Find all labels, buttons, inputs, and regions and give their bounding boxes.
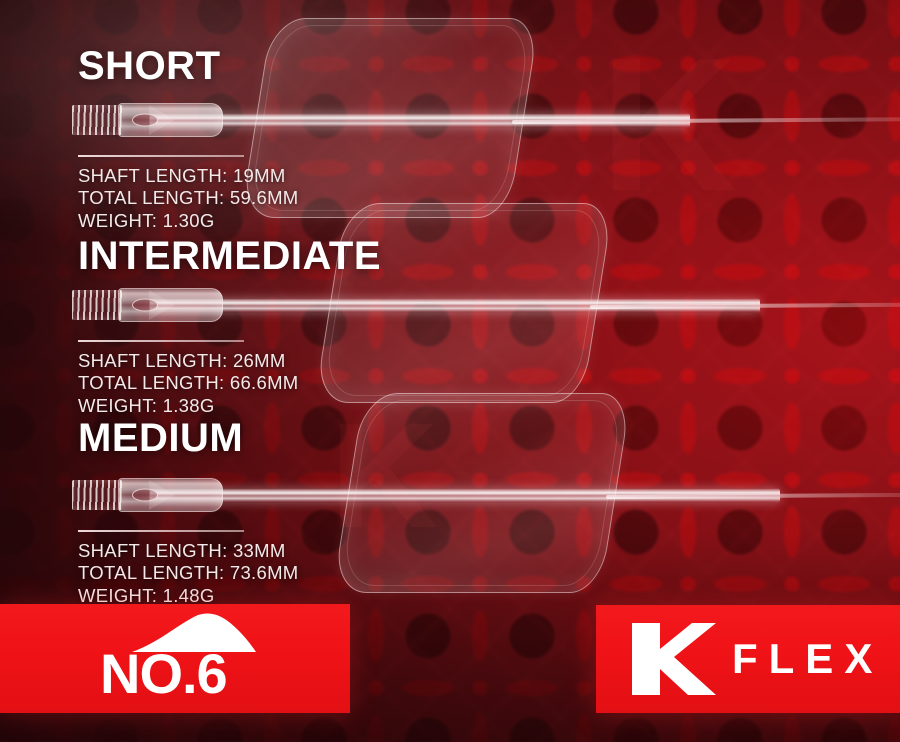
- product-block-medium: MEDIUM: [78, 418, 243, 458]
- shaft-body: [150, 488, 780, 503]
- collar-v-icon: [149, 105, 175, 135]
- collar-v-icon: [149, 480, 175, 510]
- spec-shaft-length: SHAFT LENGTH: 19MM: [78, 165, 299, 188]
- shaft-thread: [72, 290, 122, 320]
- shaft-collar: [118, 103, 223, 137]
- k-logo-icon: [630, 621, 716, 697]
- product-infographic: K K SHORT SHAFT LENGTH: 19MM TOTAL LENGT…: [0, 0, 900, 742]
- product-block-intermediate: INTERMEDIATE: [78, 236, 381, 276]
- flex-logo-text: FLEX: [732, 638, 883, 680]
- divider-rule: [78, 340, 244, 342]
- divider-rule: [78, 530, 244, 532]
- product-title: INTERMEDIATE: [78, 236, 381, 276]
- shaft-body: [150, 113, 690, 128]
- shaft-collar: [118, 478, 223, 512]
- divider-rule: [78, 155, 244, 157]
- shaft-collar: [118, 288, 223, 322]
- product-title: MEDIUM: [78, 418, 243, 458]
- spec-shaft-length: SHAFT LENGTH: 33MM: [78, 540, 299, 563]
- product-title: SHORT: [78, 46, 221, 86]
- spec-shaft-length: SHAFT LENGTH: 26MM: [78, 350, 299, 373]
- shaft-thread: [72, 105, 122, 135]
- no6-logo-badge: NO.6: [0, 604, 350, 713]
- k-flex-logo-badge: FLEX: [596, 605, 900, 713]
- collar-v-icon: [149, 290, 175, 320]
- shaft-body: [150, 298, 760, 313]
- product-block-short: SHORT: [78, 46, 221, 86]
- shaft-thread: [72, 480, 122, 510]
- spec-total-length: TOTAL LENGTH: 73.6MM: [78, 562, 299, 585]
- no6-logo-text: NO.6: [100, 646, 227, 702]
- product-specs-medium: SHAFT LENGTH: 33MM TOTAL LENGTH: 73.6MM …: [78, 530, 299, 607]
